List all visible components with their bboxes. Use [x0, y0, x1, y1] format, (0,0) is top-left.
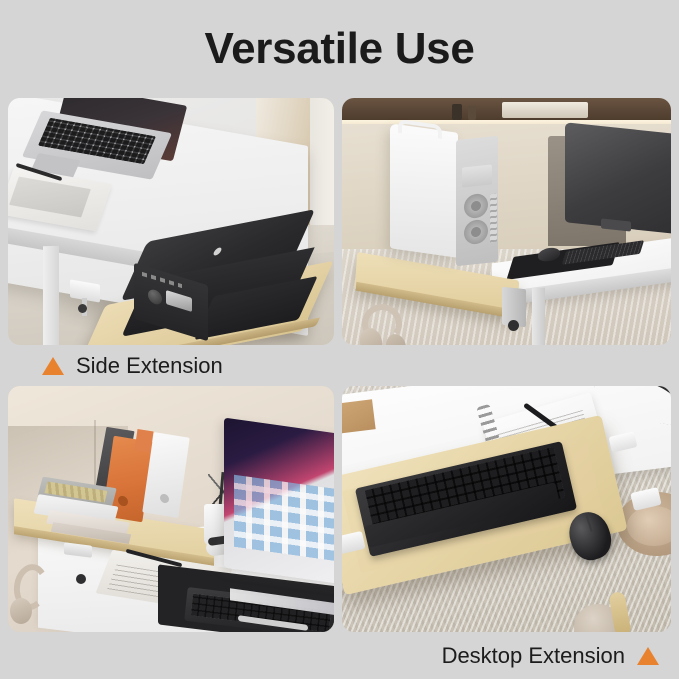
- tray-clamp-knob: [76, 574, 86, 584]
- desk-leg: [43, 246, 59, 345]
- pc-tower-side: [390, 123, 458, 258]
- pc-tower-ports: [490, 194, 497, 243]
- triangle-up-icon: [637, 647, 659, 665]
- floor-wood-strip: [342, 399, 376, 434]
- page-title: Versatile Use: [204, 27, 474, 71]
- triangle-up-icon: [42, 357, 64, 375]
- panel-printer-on-side-extension: [8, 98, 334, 345]
- scene-top-left: [8, 98, 334, 345]
- label-side-extension: Side Extension: [42, 351, 223, 381]
- label-side-extension-text: Side Extension: [76, 355, 223, 377]
- scene-bottom-right: [342, 386, 671, 632]
- shelf-decor-jar: [468, 106, 476, 120]
- scene-top-right: [342, 98, 671, 345]
- headphones-earcup: [10, 598, 32, 624]
- label-desktop-extension: Desktop Extension: [442, 641, 659, 671]
- shelf-books: [502, 102, 588, 118]
- panel-pc-tower-on-side-extension: [342, 98, 671, 345]
- shelf-decor-bottle: [452, 104, 462, 120]
- monitor: [565, 122, 671, 234]
- panel-office-supplies-on-side-extension: [8, 386, 334, 632]
- title-bar: Versatile Use: [0, 0, 679, 98]
- panel-keyboard-tray-desktop-extension: [342, 386, 671, 632]
- tray-clamp-knob: [508, 320, 519, 331]
- office-chair-base: [542, 293, 658, 345]
- label-desktop-extension-text: Desktop Extension: [442, 645, 625, 667]
- pc-tower-vent: [462, 164, 492, 187]
- scene-bottom-left: [8, 386, 334, 632]
- monitor-app-grid: [234, 475, 334, 562]
- tray-clamp-bolt: [78, 304, 87, 313]
